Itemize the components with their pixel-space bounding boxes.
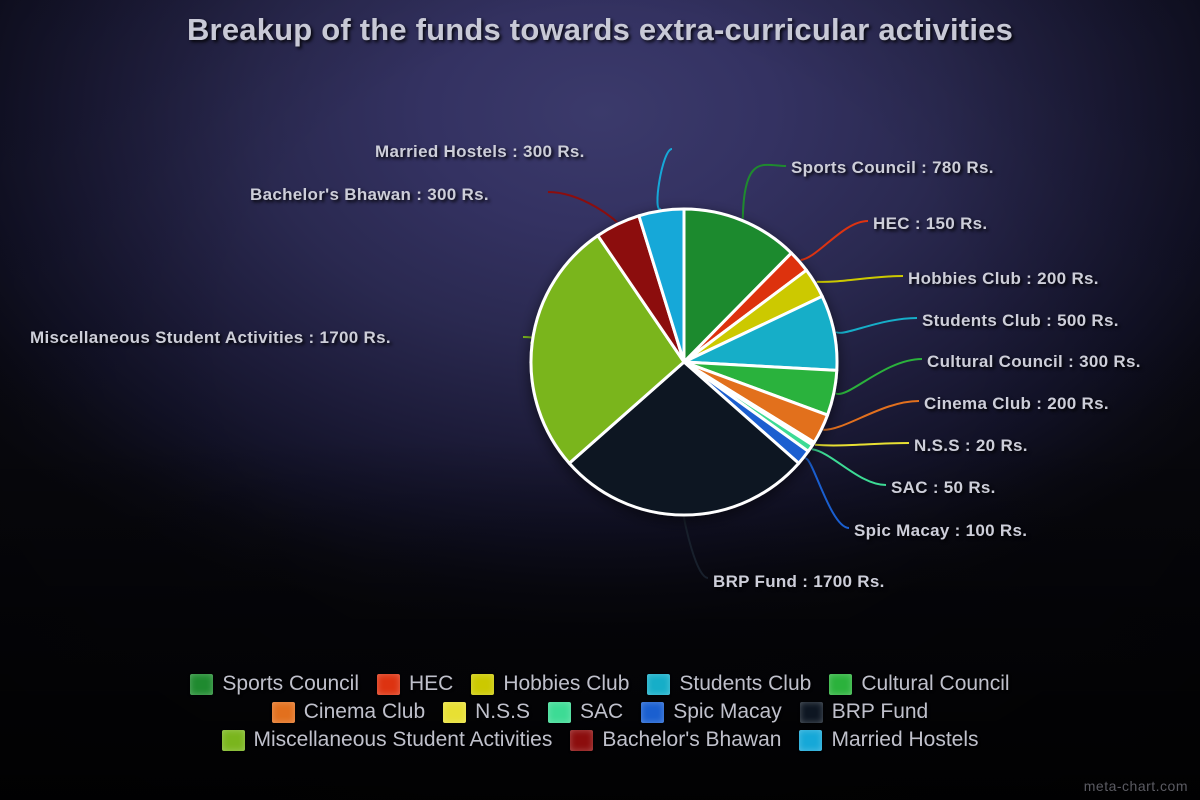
legend-label: Sports Council: [222, 672, 359, 696]
leader-line: [684, 517, 708, 578]
legend-swatch-icon: [829, 674, 852, 695]
chart-title: Breakup of the funds towards extra-curri…: [0, 12, 1200, 48]
legend-label: Cultural Council: [861, 672, 1009, 696]
legend-item[interactable]: Married Hostels: [799, 728, 978, 752]
legend-item[interactable]: Miscellaneous Student Activities: [222, 728, 553, 752]
legend-label: SAC: [580, 700, 623, 724]
callout-misc-student-activities: Miscellaneous Student Activities : 1700 …: [30, 328, 391, 348]
legend-label: Spic Macay: [673, 700, 782, 724]
callout-label: Students Club : 500 Rs.: [922, 311, 1119, 330]
callout-sac: SAC : 50 Rs.: [891, 478, 996, 498]
callout-label: Spic Macay : 100 Rs.: [854, 521, 1027, 540]
callout-students-club: Students Club : 500 Rs.: [922, 311, 1119, 331]
callout-label: Hobbies Club : 200 Rs.: [908, 269, 1099, 288]
callout-hec: HEC : 150 Rs.: [873, 214, 987, 234]
legend-item[interactable]: SAC: [548, 700, 623, 724]
leader-line: [801, 221, 868, 260]
legend-item[interactable]: Bachelor's Bhawan: [570, 728, 781, 752]
leader-line: [836, 318, 917, 333]
legend-item[interactable]: Cinema Club: [272, 700, 425, 724]
legend-label: Hobbies Club: [503, 672, 629, 696]
legend-item[interactable]: HEC: [377, 672, 453, 696]
legend-item[interactable]: Spic Macay: [641, 700, 782, 724]
leader-line: [815, 443, 909, 445]
leader-line: [817, 276, 903, 282]
legend-swatch-icon: [799, 730, 822, 751]
callout-label: Cultural Council : 300 Rs.: [927, 352, 1141, 371]
callout-label: HEC : 150 Rs.: [873, 214, 987, 233]
callout-label: N.S.S : 20 Rs.: [914, 436, 1028, 455]
legend-item[interactable]: Students Club: [647, 672, 811, 696]
watermark: meta-chart.com: [1084, 778, 1188, 794]
legend-label: Miscellaneous Student Activities: [254, 728, 553, 752]
legend-label: HEC: [409, 672, 453, 696]
callout-hobbies-club: Hobbies Club : 200 Rs.: [908, 269, 1099, 289]
legend-swatch-icon: [377, 674, 400, 695]
legend-swatch-icon: [548, 702, 571, 723]
legend-item[interactable]: Sports Council: [190, 672, 359, 696]
legend-row: Cinema ClubN.S.SSACSpic MacayBRP Fund: [263, 700, 937, 724]
leader-line: [743, 165, 786, 219]
leader-line: [548, 192, 617, 222]
legend-label: Cinema Club: [304, 700, 425, 724]
leader-line: [812, 449, 886, 485]
legend-item[interactable]: N.S.S: [443, 700, 530, 724]
legend-label: Bachelor's Bhawan: [602, 728, 781, 752]
callout-label: Miscellaneous Student Activities : 1700 …: [30, 328, 391, 347]
callout-married-hostels: Married Hostels : 300 Rs.: [375, 142, 585, 162]
legend-label: BRP Fund: [832, 700, 929, 724]
legend-row: Sports CouncilHECHobbies ClubStudents Cl…: [181, 672, 1018, 696]
legend-swatch-icon: [471, 674, 494, 695]
legend-swatch-icon: [190, 674, 213, 695]
chart-canvas: Breakup of the funds towards extra-curri…: [0, 0, 1200, 800]
legend-swatch-icon: [647, 674, 670, 695]
legend-item[interactable]: Cultural Council: [829, 672, 1009, 696]
leader-line: [805, 458, 849, 528]
callout-brp-fund: BRP Fund : 1700 Rs.: [713, 572, 885, 592]
callout-cultural-council: Cultural Council : 300 Rs.: [927, 352, 1141, 372]
legend-label: Students Club: [679, 672, 811, 696]
callout-label: SAC : 50 Rs.: [891, 478, 996, 497]
leader-line: [836, 359, 922, 394]
leader-line: [657, 149, 672, 209]
callout-cinema-club: Cinema Club : 200 Rs.: [924, 394, 1109, 414]
legend-swatch-icon: [641, 702, 664, 723]
legend-swatch-icon: [272, 702, 295, 723]
callout-label: Cinema Club : 200 Rs.: [924, 394, 1109, 413]
legend-item[interactable]: Hobbies Club: [471, 672, 629, 696]
callout-label: Sports Council : 780 Rs.: [791, 158, 994, 177]
legend-swatch-icon: [570, 730, 593, 751]
legend-item[interactable]: BRP Fund: [800, 700, 929, 724]
legend-swatch-icon: [222, 730, 245, 751]
legend-swatch-icon: [800, 702, 823, 723]
callout-nss: N.S.S : 20 Rs.: [914, 436, 1028, 456]
chart-legend: Sports CouncilHECHobbies ClubStudents Cl…: [0, 672, 1200, 752]
callout-label: BRP Fund : 1700 Rs.: [713, 572, 885, 591]
callout-label: Bachelor's Bhawan : 300 Rs.: [250, 185, 489, 204]
callout-label: Married Hostels : 300 Rs.: [375, 142, 585, 161]
legend-label: Married Hostels: [831, 728, 978, 752]
leader-line: [823, 401, 919, 430]
callout-spic-macay: Spic Macay : 100 Rs.: [854, 521, 1027, 541]
pie-slices: [531, 209, 837, 515]
callout-bachelors-bhawan: Bachelor's Bhawan : 300 Rs.: [250, 185, 489, 205]
legend-row: Miscellaneous Student ActivitiesBachelor…: [213, 728, 988, 752]
legend-swatch-icon: [443, 702, 466, 723]
callout-sports-council: Sports Council : 780 Rs.: [791, 158, 994, 178]
legend-label: N.S.S: [475, 700, 530, 724]
